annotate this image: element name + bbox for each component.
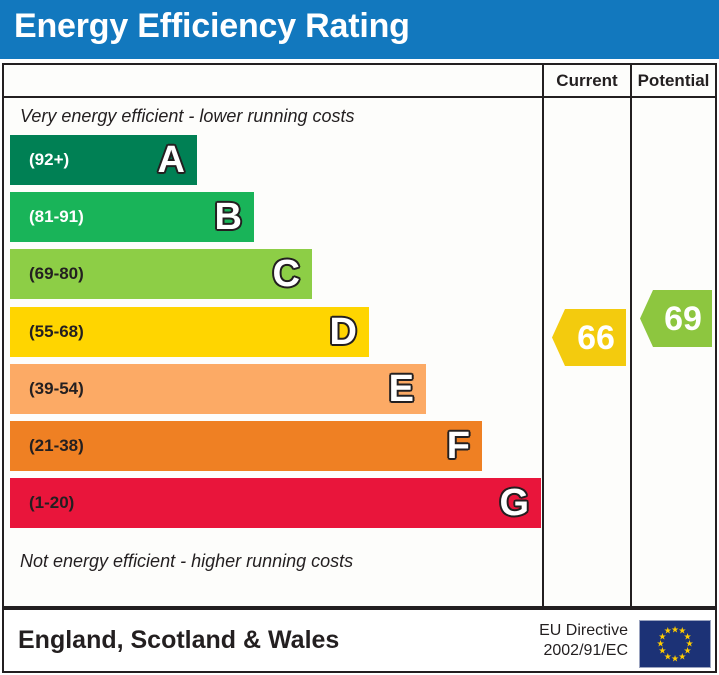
footer-bar: England, Scotland & Wales EU Directive 2… [2,608,717,673]
band-row-g: (1-20)G [10,478,541,528]
current-rating-arrow: 66 [552,309,626,366]
directive-line-2: 2002/91/EC [508,641,628,661]
band-row-a: (92+)A [10,135,197,185]
column-header-row: Current Potential [4,65,715,98]
band-letter-e: E [389,370,414,408]
potential-rating-arrow: 69 [640,290,712,347]
band-row-e: (39-54)E [10,364,426,414]
current-rating-value: 66 [563,321,615,355]
band-range-d: (55-68) [29,322,84,342]
caption-inefficient: Not energy efficient - higher running co… [4,543,542,580]
band-range-c: (69-80) [29,264,84,284]
band-list: (92+)A(81-91)B(69-80)C(55-68)D(39-54)E(2… [4,135,542,543]
band-row-d: (55-68)D [10,307,369,357]
band-range-g: (1-20) [29,493,74,513]
band-range-a: (92+) [29,150,69,170]
column-divider-right [630,65,632,606]
band-range-e: (39-54) [29,379,84,399]
caption-efficient-text: Very energy efficient - lower running co… [4,106,355,127]
column-divider-left [542,65,544,606]
rating-table: Current Potential Very energy efficient … [2,63,717,608]
band-letter-c: C [273,255,300,293]
epc-certificate-chart: Energy Efficiency Rating Current Potenti… [0,0,719,675]
caption-efficient: Very energy efficient - lower running co… [4,98,542,135]
footer-region-label: England, Scotland & Wales [18,626,339,655]
title-bar: Energy Efficiency Rating [0,0,719,59]
potential-rating-value: 69 [650,302,702,336]
caption-inefficient-text: Not energy efficient - higher running co… [4,551,353,572]
eu-flag-icon [639,620,711,668]
band-letter-a: A [158,141,185,179]
band-letter-g: G [499,484,529,522]
column-header-current: Current [544,71,630,91]
footer-directive-label: EU Directive 2002/91/EC [508,621,628,662]
band-letter-b: B [215,198,242,236]
band-range-b: (81-91) [29,207,84,227]
column-header-potential: Potential [632,71,715,91]
band-range-f: (21-38) [29,436,84,456]
directive-line-1: EU Directive [508,621,628,641]
band-row-c: (69-80)C [10,249,312,299]
page-title: Energy Efficiency Rating [14,7,410,46]
band-row-f: (21-38)F [10,421,482,471]
band-letter-f: F [447,427,470,465]
band-row-b: (81-91)B [10,192,254,242]
band-letter-d: D [330,313,357,351]
